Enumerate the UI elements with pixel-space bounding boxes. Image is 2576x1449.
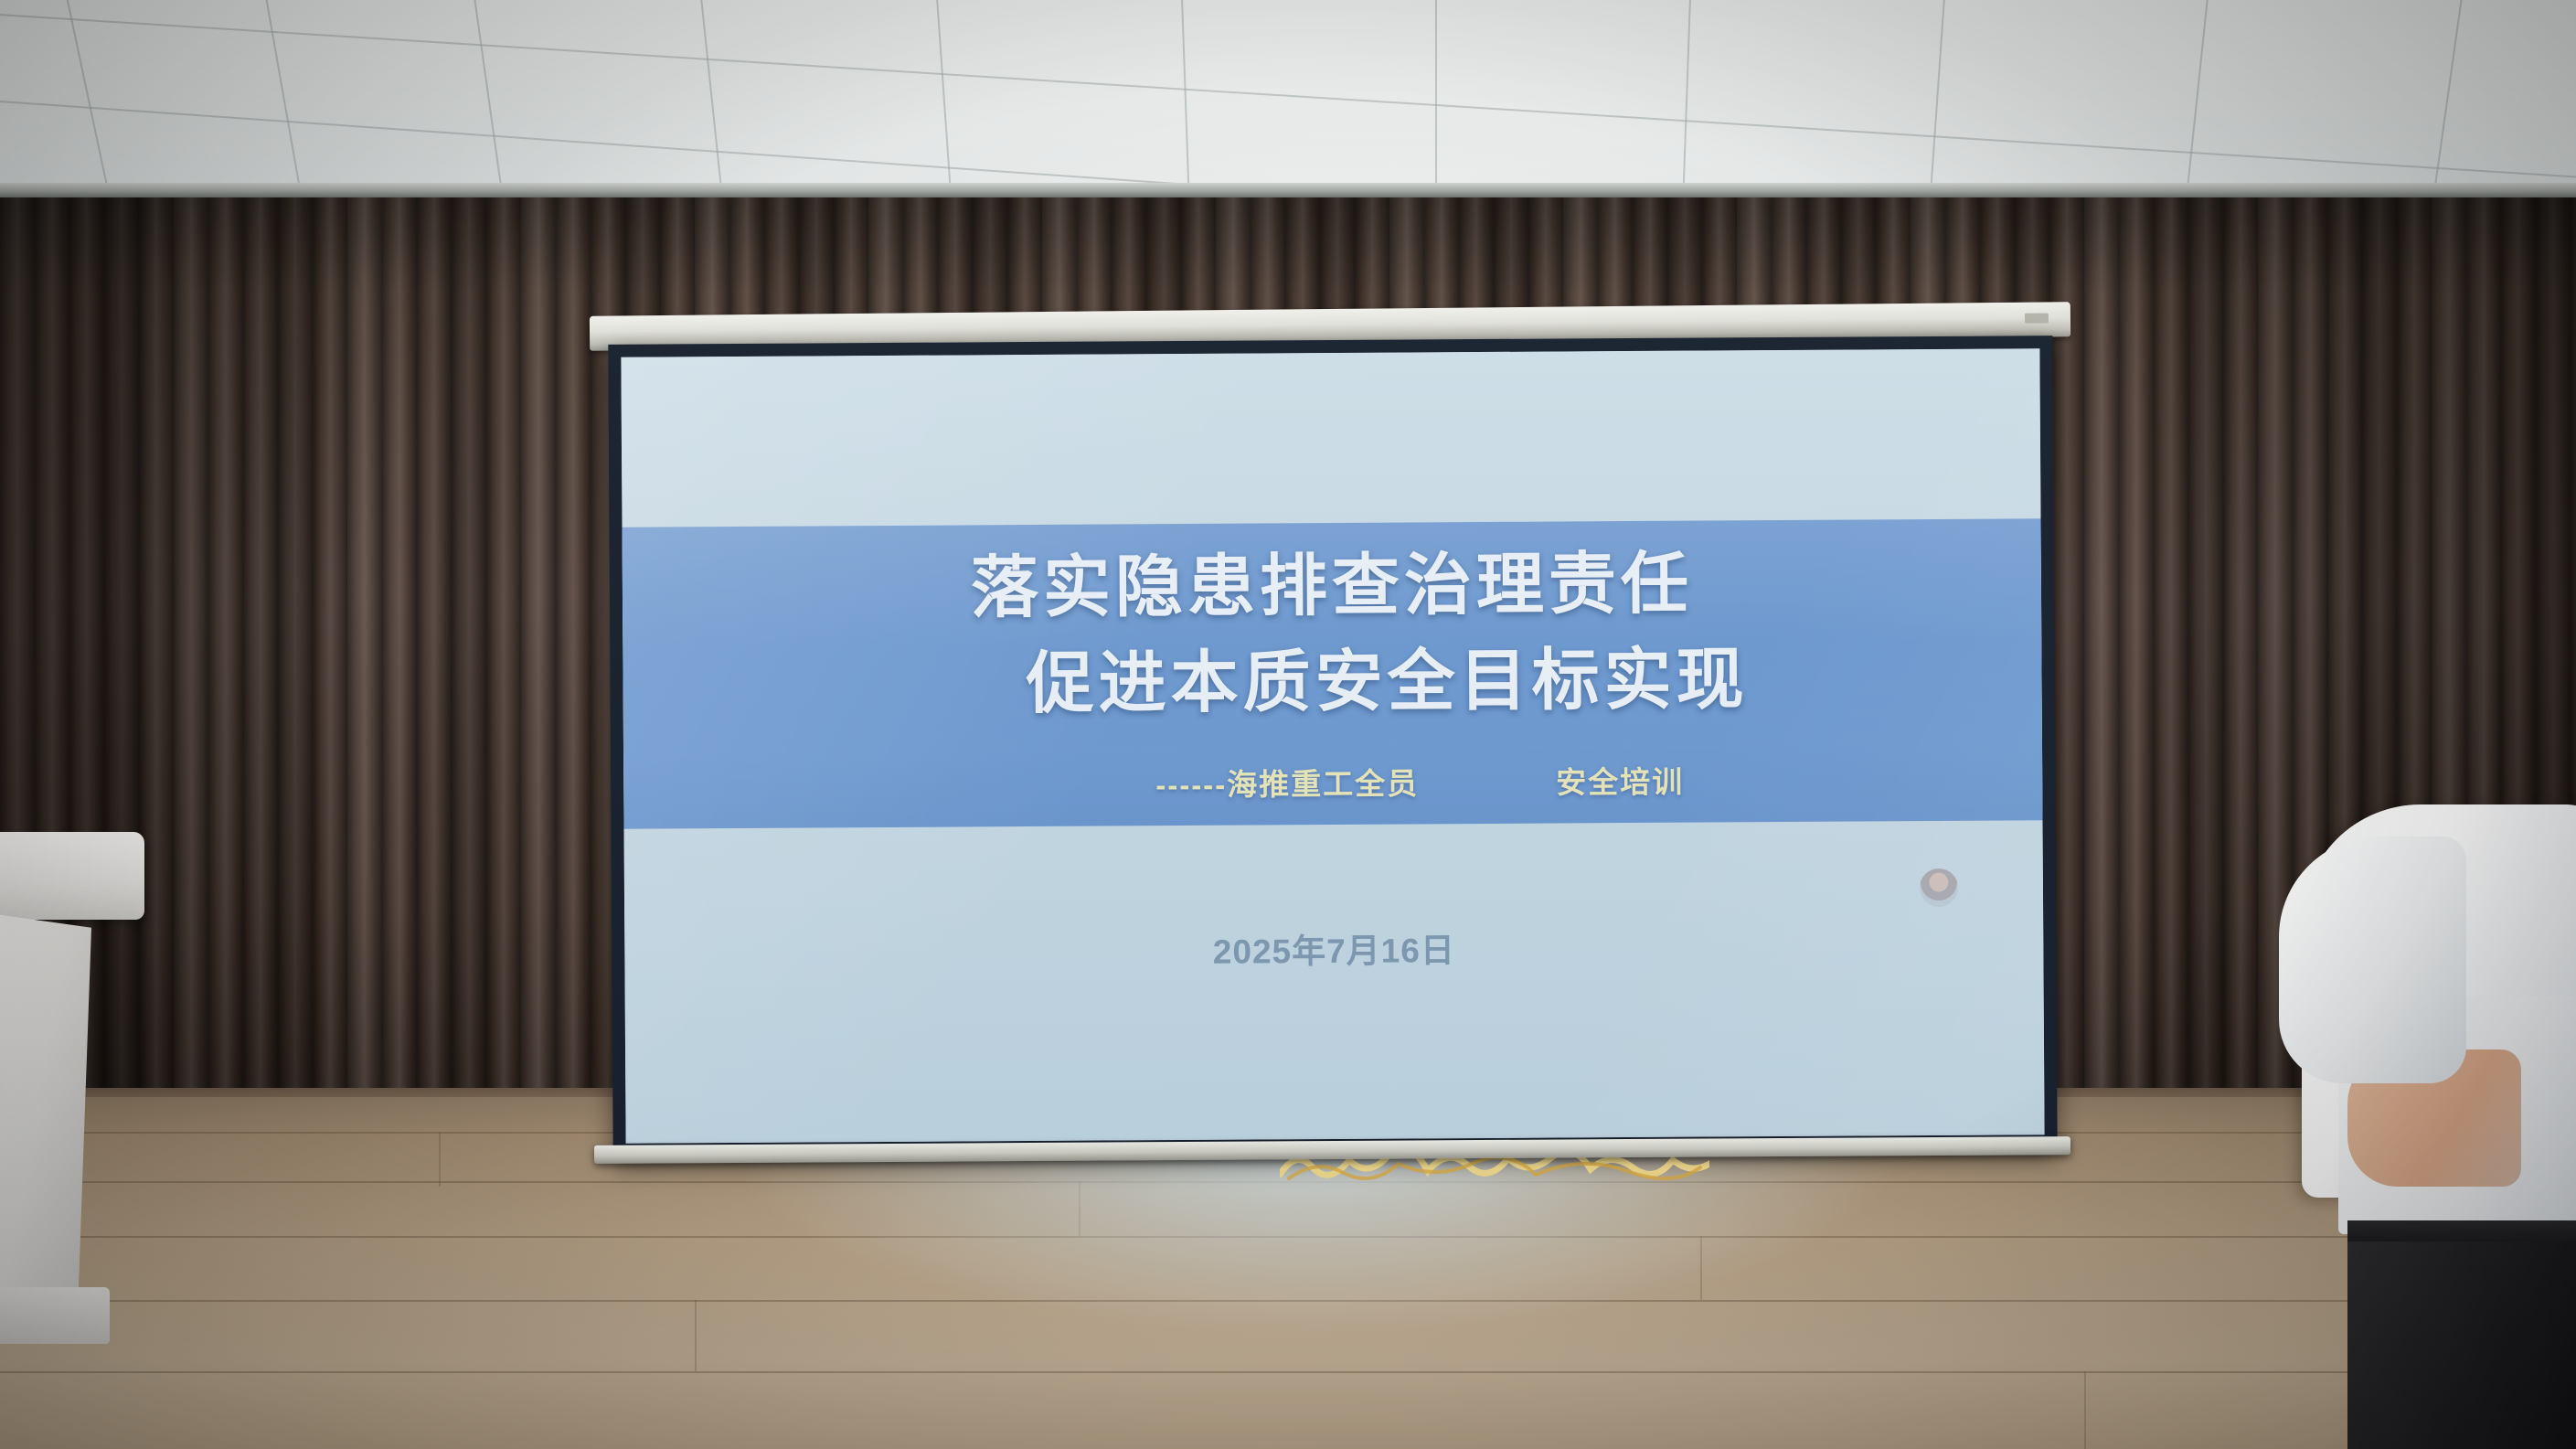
housing-endcap [2025,313,2049,323]
slide-title: 落实隐患排查治理责任 促进本质安全目标实现 [623,533,2042,734]
presentation-slide: 落实隐患排查治理责任 促进本质安全目标实现 ------海推重工全员安全培训 2… [621,348,2044,1143]
lectern [0,832,146,1344]
slide-subtitle-gap [1419,794,1556,794]
slide-title-line-2: 促进本质安全目标实现 [623,629,2042,734]
person-trousers [2347,1241,2576,1449]
slide-subtitle-topic: 安全培训 [1556,765,1684,800]
projection-screen-canvas: 落实隐患排查治理责任 促进本质安全目标实现 ------海推重工全员安全培训 2… [621,348,2044,1143]
slide-title-line-1: 落实隐患排查治理责任 [971,546,1693,626]
person-standing [2274,804,2576,1449]
curtain-rail [0,183,2576,197]
slide-date: 2025年7月16日 [624,919,2043,976]
avatar-watermark-icon [1920,868,1958,906]
slide-subtitle-dashes: ------ [982,768,1227,804]
person-sleeve [2279,836,2466,1083]
projection-screen-frame: 落实隐患排查治理责任 促进本质安全目标实现 ------海推重工全员安全培训 2… [608,336,2057,1158]
lectern-top [0,832,144,920]
room-photo-scene: 落实隐患排查治理责任 促进本质安全目标实现 ------海推重工全员安全培训 2… [0,0,2576,1449]
lectern-base [0,1287,110,1344]
lectern-column [0,912,91,1296]
slide-subtitle: ------海推重工全员安全培训 [623,756,2042,808]
slide-subtitle-org: 海推重工全员 [1227,767,1419,802]
